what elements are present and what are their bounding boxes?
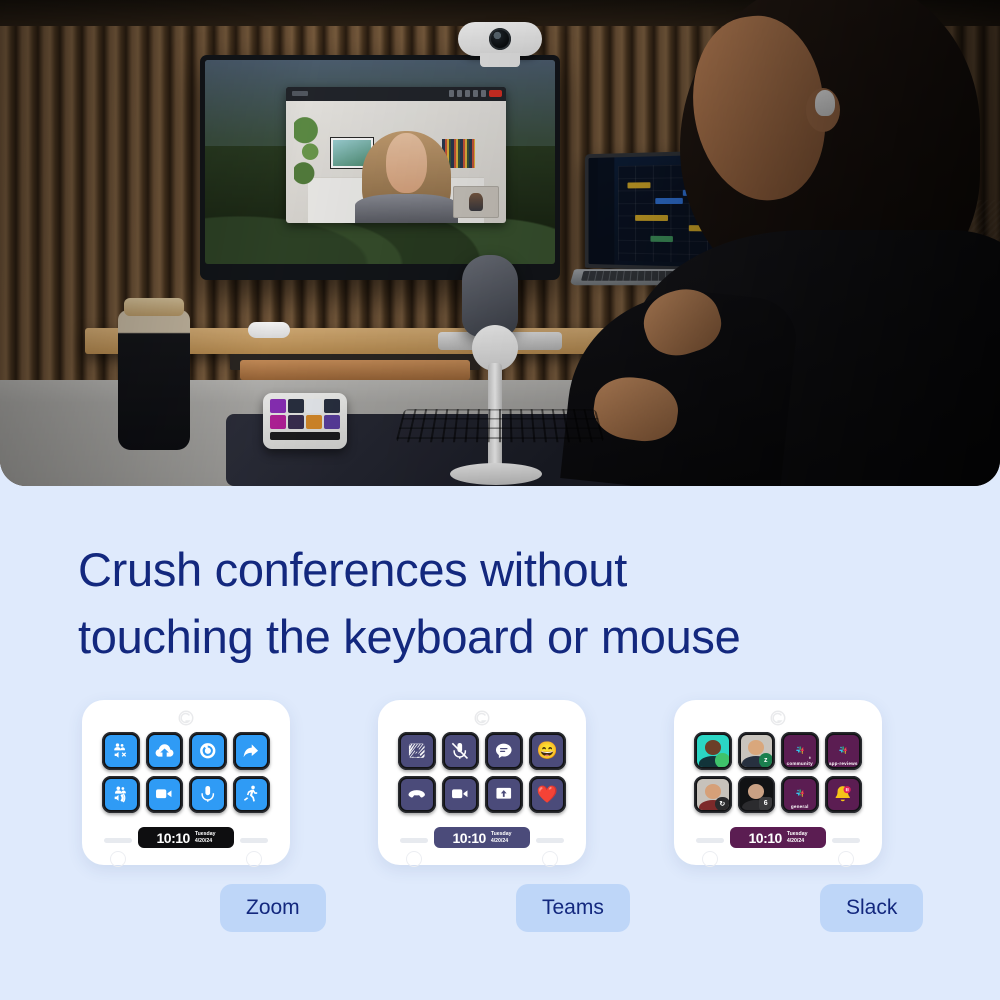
channel-app-reviews-key[interactable]: app-reviews bbox=[825, 732, 863, 770]
headline-line-1: Crush conferences without bbox=[78, 536, 938, 603]
elgato-logo bbox=[177, 709, 195, 727]
camera-icon bbox=[149, 779, 181, 811]
heart-emoji-icon[interactable]: ❤️ bbox=[529, 776, 567, 814]
clock-date: Tuesday4/20/24 bbox=[195, 831, 216, 844]
people-sound-icon bbox=[105, 779, 137, 811]
page-title: Crush conferences without touching the k… bbox=[78, 536, 938, 670]
contact-snooze-avatar[interactable]: z bbox=[738, 732, 776, 770]
avatar-unread-icon: 6 bbox=[741, 779, 773, 811]
laugh-emoji-icon[interactable]: 😄 bbox=[529, 732, 567, 770]
clock-time: 10:10 bbox=[749, 830, 782, 846]
unmute-all-icon[interactable] bbox=[102, 776, 140, 814]
clock-display: 10:10 Tuesday4/20/24 bbox=[434, 827, 530, 848]
share-up-icon bbox=[488, 779, 520, 811]
presence-badge: 6 bbox=[759, 797, 772, 810]
app-label-teams[interactable]: Teams bbox=[516, 884, 630, 932]
emoji-joy-icon: 😄 bbox=[532, 735, 564, 767]
record-icon[interactable] bbox=[189, 732, 227, 770]
key-grid: 😄❤️ bbox=[398, 732, 566, 813]
channel-general-key[interactable]: general bbox=[781, 776, 819, 814]
avatar: 6 bbox=[741, 779, 773, 811]
chat-icon bbox=[488, 735, 520, 767]
people-mute-icon bbox=[105, 735, 137, 767]
contact-unread-avatar[interactable]: 6 bbox=[738, 776, 776, 814]
elgato-logo bbox=[769, 709, 787, 727]
presence-badge: z bbox=[759, 753, 772, 766]
avatar-snooze-icon: z bbox=[741, 735, 773, 767]
channel-name: community bbox=[784, 761, 816, 766]
key-grid bbox=[102, 732, 270, 813]
hero-vignette bbox=[0, 0, 1000, 486]
clock-date: Tuesday4/20/24 bbox=[491, 831, 512, 844]
channel-community-key[interactable]: community bbox=[781, 732, 819, 770]
clock-date: Tuesday4/20/24 bbox=[787, 831, 808, 844]
heart-icon: ❤️ bbox=[532, 779, 564, 811]
blur-icon bbox=[401, 735, 433, 767]
app-label-zoom[interactable]: Zoom bbox=[220, 884, 326, 932]
emoji-glyph: 😄 bbox=[537, 742, 558, 759]
notifications-paused-icon[interactable] bbox=[825, 776, 863, 814]
channel-name: app-reviews bbox=[828, 761, 860, 766]
hang-up-icon[interactable] bbox=[398, 776, 436, 814]
hangup-icon bbox=[401, 779, 433, 811]
bell-pause-icon bbox=[828, 779, 860, 811]
knob-left[interactable] bbox=[406, 851, 422, 867]
camera-icon[interactable] bbox=[442, 776, 480, 814]
knob-right[interactable] bbox=[542, 851, 558, 867]
runner-icon bbox=[236, 779, 268, 811]
contact-away-avatar[interactable]: ↻ bbox=[694, 776, 732, 814]
avatar: z bbox=[741, 735, 773, 767]
elgato-logo bbox=[473, 709, 491, 727]
camera-icon bbox=[445, 779, 477, 811]
avatar bbox=[697, 735, 729, 767]
clock-time: 10:10 bbox=[453, 830, 486, 846]
mic-muted-icon[interactable] bbox=[442, 732, 480, 770]
leave-meeting-icon[interactable] bbox=[233, 776, 271, 814]
cloud-upload-icon[interactable] bbox=[146, 732, 184, 770]
knob-right[interactable] bbox=[838, 851, 854, 867]
hero-photo bbox=[0, 0, 1000, 486]
dial-left[interactable] bbox=[696, 838, 724, 843]
dial-right[interactable] bbox=[240, 838, 268, 843]
knob-left[interactable] bbox=[110, 851, 126, 867]
slack-icon: general bbox=[784, 779, 816, 811]
device-card-slack: zcommunityapp-reviews↻6general 10:10 Tue… bbox=[674, 700, 882, 865]
clock-display: 10:10 Tuesday4/20/24 bbox=[730, 827, 826, 848]
dial-left[interactable] bbox=[104, 838, 132, 843]
share-icon[interactable] bbox=[233, 732, 271, 770]
mic-off-icon bbox=[445, 735, 477, 767]
device-card-zoom: 10:10 Tuesday4/20/24 bbox=[82, 700, 290, 865]
cloud-up-icon bbox=[149, 735, 181, 767]
dial-left[interactable] bbox=[400, 838, 428, 843]
clock-time: 10:10 bbox=[157, 830, 190, 846]
contact-online-avatar[interactable] bbox=[694, 732, 732, 770]
device-card-teams: 😄❤️ 10:10 Tuesday4/20/24 bbox=[378, 700, 586, 865]
avatar-online-icon bbox=[697, 735, 729, 767]
avatar-away-icon: ↻ bbox=[697, 779, 729, 811]
mic-icon bbox=[192, 779, 224, 811]
app-label-slack[interactable]: Slack bbox=[820, 884, 923, 932]
blur-background-icon[interactable] bbox=[398, 732, 436, 770]
slack-lock-icon: community bbox=[784, 735, 816, 767]
presence-badge bbox=[715, 753, 728, 766]
microphone-icon[interactable] bbox=[189, 776, 227, 814]
dial-right[interactable] bbox=[536, 838, 564, 843]
chat-icon[interactable] bbox=[485, 732, 523, 770]
marketing-page: Crush conferences without touching the k… bbox=[0, 0, 1000, 1000]
knob-left[interactable] bbox=[702, 851, 718, 867]
mute-all-icon[interactable] bbox=[102, 732, 140, 770]
dial-right[interactable] bbox=[832, 838, 860, 843]
arrow-share-icon bbox=[236, 735, 268, 767]
record-icon bbox=[192, 735, 224, 767]
channel-name: general bbox=[784, 804, 816, 809]
slack-icon: app-reviews bbox=[828, 735, 860, 767]
knob-right[interactable] bbox=[246, 851, 262, 867]
key-grid: zcommunityapp-reviews↻6general bbox=[694, 732, 862, 813]
emoji-glyph: ❤️ bbox=[537, 786, 558, 803]
avatar: ↻ bbox=[697, 779, 729, 811]
camera-icon[interactable] bbox=[146, 776, 184, 814]
headline-line-2: touching the keyboard or mouse bbox=[78, 603, 938, 670]
share-screen-icon[interactable] bbox=[485, 776, 523, 814]
clock-display: 10:10 Tuesday4/20/24 bbox=[138, 827, 234, 848]
presence-badge: ↻ bbox=[715, 797, 728, 810]
